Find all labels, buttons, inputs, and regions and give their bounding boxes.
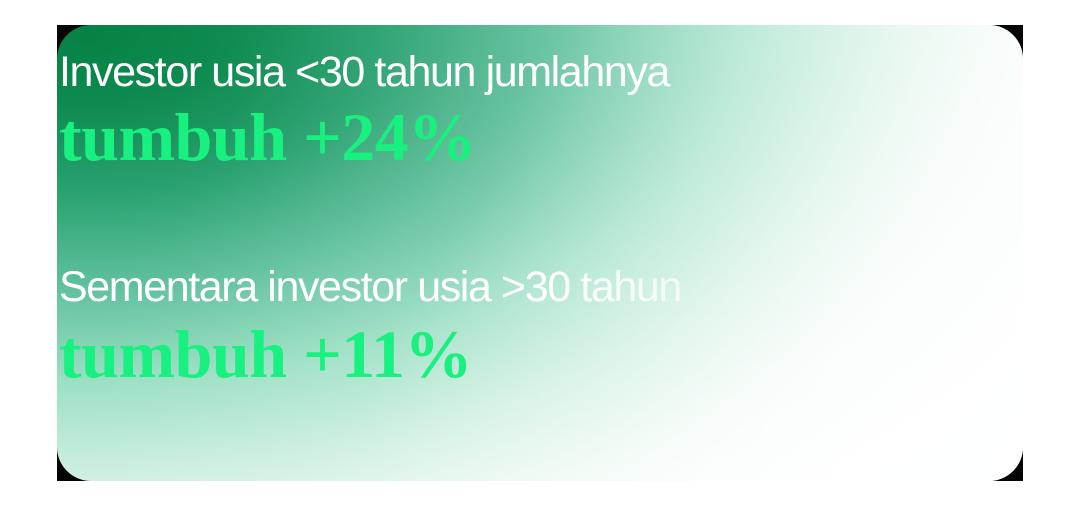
stat-block-young-investors: Investor usia <30 tahun jumlahnya tumbuh… [59,50,1080,173]
screenshot-stage: Investor usia <30 tahun jumlahnya tumbuh… [0,0,1080,505]
stat-line-young-investors: tumbuh +24% [59,102,1080,173]
card-copy-container: Investor usia <30 tahun jumlahnya tumbuh… [59,50,1080,390]
stat-value-older: +11% [303,316,472,392]
stat-block-older-investors: Sementara investor usia >30 tahun tumbuh… [59,265,1080,390]
lede-text-young-investors: Investor usia <30 tahun jumlahnya [59,50,1080,96]
stat-value-young: +24% [303,99,476,175]
stat-word-older: tumbuh [59,316,287,392]
stat-word-young: tumbuh [59,99,287,175]
stat-line-older-investors: tumbuh +11% [59,319,1080,390]
lede-text-older-investors: Sementara investor usia >30 tahun [59,265,1080,311]
